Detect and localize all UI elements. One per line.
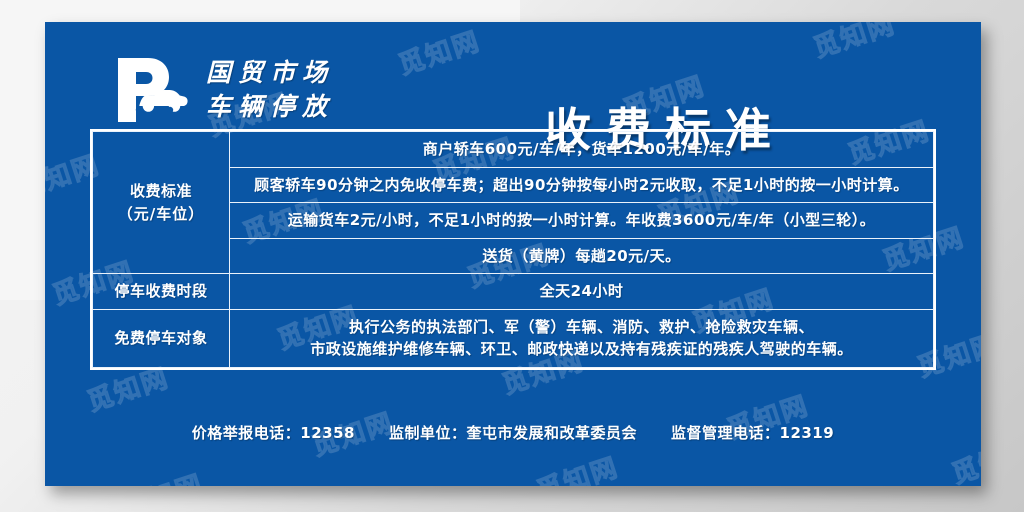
- row-header-free-parking: 免费停车对象: [93, 309, 230, 367]
- brand-name: 国贸市场 车辆停放: [206, 56, 334, 124]
- supervision-phone: 监督管理电话：12319: [671, 422, 834, 443]
- row-header-fee-standard: 收费标准 （元/车位）: [93, 132, 230, 274]
- table-row: 停车收费时段 全天24小时: [93, 274, 934, 310]
- fee-cell-charging-hours: 全天24小时: [230, 274, 934, 310]
- parking-p-car-icon: [110, 54, 188, 126]
- parking-fee-poster: 觅知网觅知网觅知网觅知网觅知网觅知网觅知网觅知网觅知网觅知网觅知网觅知网觅知网觅…: [45, 22, 981, 486]
- fee-cell-transport-truck: 运输货车2元/小时，不足1小时的按一小时计算。年收费3600元/车/年（小型三轮…: [230, 203, 934, 239]
- supervisor-unit: 监制单位：奎屯市发展和改革委员会: [389, 422, 637, 443]
- watermark-tile: 觅知网: [689, 438, 914, 486]
- brand-block: 国贸市场 车辆停放: [110, 54, 334, 126]
- fee-cell-customer-car: 顾客轿车90分钟之内免收停车费；超出90分钟按每小时2元收取，不足1小时的按一小…: [230, 167, 934, 203]
- free-parking-line-1: 执行公务的执法部门、军（警）车辆、消防、救护、抢险救灾车辆、: [238, 316, 925, 339]
- brand-line-2: 车辆停放: [206, 90, 334, 124]
- row-header-label: 收费标准: [130, 182, 192, 200]
- row-header-sublabel: （元/车位）: [101, 203, 221, 226]
- fee-table-wrapper: 收费标准 （元/车位） 商户轿车600元/车/年，货车1200元/车/年。 顾客…: [90, 129, 936, 370]
- price-report-phone: 价格举报电话：12358: [192, 422, 355, 443]
- poster-footer: 价格举报电话：12358 监制单位：奎屯市发展和改革委员会 监督管理电话：123…: [90, 422, 936, 443]
- fee-table: 收费标准 （元/车位） 商户轿车600元/车/年，货车1200元/车/年。 顾客…: [92, 131, 934, 368]
- row-header-charging-hours: 停车收费时段: [93, 274, 230, 310]
- fee-cell-free-parking: 执行公务的执法部门、军（警）车辆、消防、救护、抢险救灾车辆、 市政设施维护维修车…: [230, 309, 934, 367]
- watermark-tile: 觅知网: [274, 455, 499, 486]
- poster-header: 国贸市场 车辆停放 收费标准: [45, 44, 981, 136]
- table-row: 免费停车对象 执行公务的执法部门、军（警）车辆、消防、救护、抢险救灾车辆、 市政…: [93, 309, 934, 367]
- fee-cell-delivery-yellow-plate: 送货（黄牌）每趟20元/天。: [230, 238, 934, 274]
- fee-cell-merchant-car: 商户轿车600元/车/年，货车1200元/车/年。: [230, 132, 934, 168]
- table-row: 收费标准 （元/车位） 商户轿车600元/车/年，货车1200元/车/年。: [93, 132, 934, 168]
- free-parking-line-2: 市政设施维护维修车辆、环卫、邮政快递以及持有残疾证的残疾人驾驶的车辆。: [238, 338, 925, 361]
- watermark-tile: 觅知网: [914, 482, 981, 486]
- brand-line-1: 国贸市场: [206, 56, 334, 90]
- page-background: 觅知网觅知网觅知网觅知网觅知网觅知网觅知网觅知网觅知网觅知网觅知网觅知网觅知网觅…: [0, 0, 1024, 512]
